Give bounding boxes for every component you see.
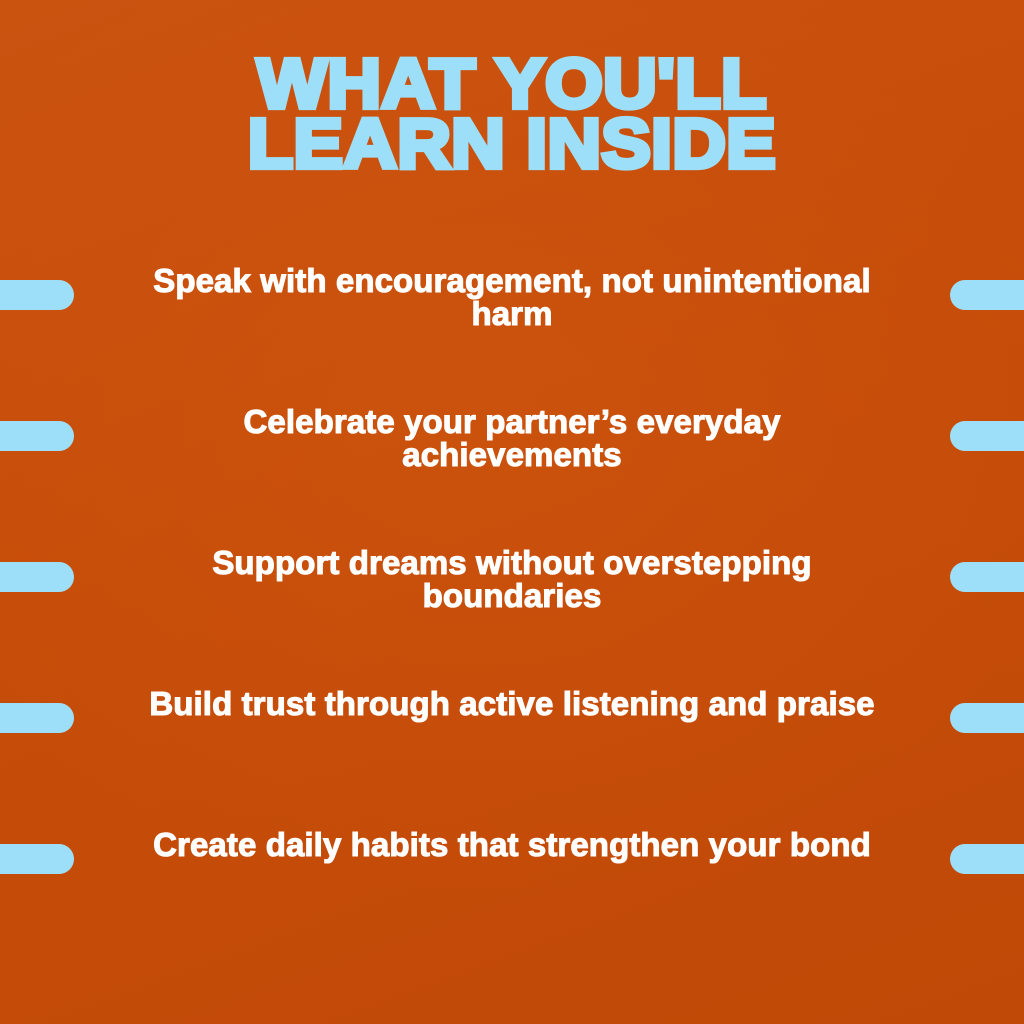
dash-marker-right-icon — [950, 280, 1024, 310]
list-item: Support dreams without overstepping boun… — [0, 528, 1024, 669]
dash-marker-left-icon — [0, 421, 74, 451]
dash-marker-right-icon — [950, 562, 1024, 592]
list-item-label: Create daily habits that strengthen your… — [142, 828, 882, 861]
page-title: WHAT YOU'LL LEARN INSIDE — [0, 54, 1024, 171]
poster-canvas: WHAT YOU'LL LEARN INSIDE Speak with enco… — [0, 0, 1024, 1024]
list-item-label: Celebrate your partner’s everyday achiev… — [142, 405, 882, 471]
dash-marker-right-icon — [950, 421, 1024, 451]
list-item: Build trust through active listening and… — [0, 669, 1024, 810]
list-item: Speak with encouragement, not unintentio… — [0, 246, 1024, 387]
list-item-label: Support dreams without overstepping boun… — [142, 546, 882, 612]
page-title-line-2: LEARN INSIDE — [0, 114, 1024, 174]
dash-marker-right-icon — [950, 703, 1024, 733]
dash-marker-left-icon — [0, 703, 74, 733]
dash-marker-right-icon — [950, 844, 1024, 874]
dash-marker-left-icon — [0, 562, 74, 592]
dash-marker-left-icon — [0, 280, 74, 310]
learning-points-list: Speak with encouragement, not unintentio… — [0, 246, 1024, 951]
list-item: Create daily habits that strengthen your… — [0, 810, 1024, 951]
list-item-label: Build trust through active listening and… — [142, 687, 882, 720]
list-item: Celebrate your partner’s everyday achiev… — [0, 387, 1024, 528]
dash-marker-left-icon — [0, 844, 74, 874]
list-item-label: Speak with encouragement, not unintentio… — [142, 264, 882, 330]
